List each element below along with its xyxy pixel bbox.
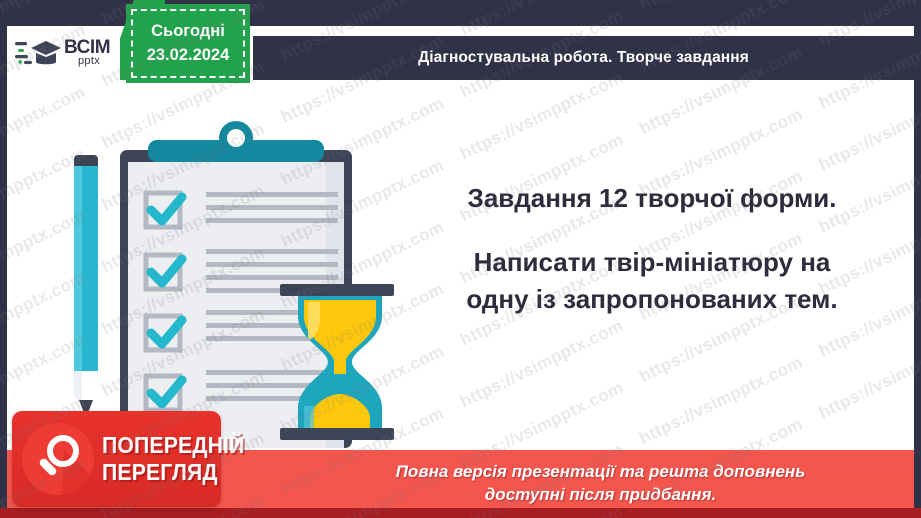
- preview-badge[interactable]: ПОПЕРЕДНІЙ ПЕРЕГЛЯД: [12, 411, 221, 507]
- preview-badge-label: ПОПЕРЕДНІЙ ПЕРЕГЛЯД: [102, 434, 257, 484]
- brand-suffix: pptx: [78, 56, 110, 66]
- clipboard-checklist-illustration: [52, 118, 402, 448]
- pencil-icon: [74, 155, 98, 418]
- slide-header-bar: Діагностувальна робота. Творче завдання: [253, 36, 914, 80]
- today-date-value: 23.02.2024: [147, 46, 230, 65]
- slide-body-text: Завдання 12 творчої форми. Написати твір…: [396, 180, 908, 319]
- frame-right-border: [914, 0, 921, 518]
- brand-logo[interactable]: ВСІМ pptx: [7, 26, 120, 80]
- footer-message-line-2: доступні після придбання.: [280, 484, 921, 506]
- preview-label-line-1: ПОПЕРЕДНІЙ: [102, 434, 245, 457]
- magnifier-icon: [22, 423, 94, 495]
- task-instruction-line-1: Написати твір-мініатюру на: [396, 244, 908, 282]
- task-title-line: Завдання 12 творчої форми.: [396, 180, 908, 218]
- presentation-slide: Завдання 12 творчої форми. Написати твір…: [0, 0, 921, 518]
- graduation-cap-icon: [15, 36, 61, 70]
- page-title: Діагностувальна робота. Творче завдання: [418, 49, 749, 67]
- task-instruction-line-2: одну із запропонованих тем.: [396, 281, 908, 319]
- clipboard-clip-icon: [148, 121, 324, 162]
- today-date-badge: Сьогодні 23.02.2024: [126, 4, 250, 83]
- today-label: Сьогодні: [151, 22, 225, 41]
- frame-bottom-border: [0, 508, 921, 518]
- footer-message: Повна версія презентації та решта доповн…: [280, 461, 921, 506]
- footer-message-line-1: Повна версія презентації та решта доповн…: [280, 461, 921, 483]
- frame-left-border: [0, 0, 7, 518]
- preview-label-line-2: ПЕРЕГЛЯД: [102, 461, 245, 484]
